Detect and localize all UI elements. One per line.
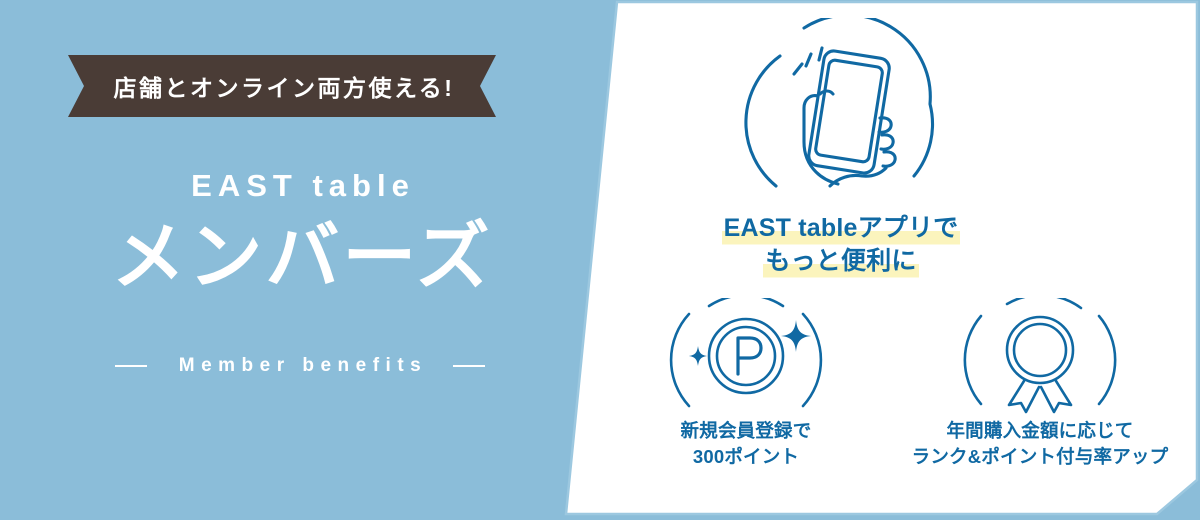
members-benefits-banner: 店舗とオンライン両方使える! EAST table メンバーズ Member b… — [0, 0, 1200, 520]
right-feature-column: EAST tableアプリで もっと便利に — [566, 0, 1200, 520]
feature-app-caption: EAST tableアプリで もっと便利に — [722, 212, 961, 278]
benefit-item-points-caption: 新規会員登録で 300ポイント — [681, 418, 812, 469]
dash-left-icon — [115, 365, 147, 367]
benefit-rank-line1: 年間購入金額に応じて — [912, 418, 1169, 444]
award-ribbon-rosette-icon — [945, 298, 1135, 416]
left-text-column: 店舗とオンライン両方使える! EAST table メンバーズ Member b… — [0, 0, 600, 520]
benefit-item-rank: 年間購入金額に応じて ランク&ポイント付与率アップ — [909, 298, 1171, 469]
brand-name: EAST table — [0, 168, 600, 204]
hand-holding-smartphone-icon — [734, 18, 949, 208]
ribbon-badge: 店舗とオンライン両方使える! — [68, 55, 496, 117]
feature-app-caption-line1: EAST tableアプリで — [722, 212, 961, 245]
page-title: メンバーズ — [0, 218, 600, 296]
benefit-item-rank-caption: 年間購入金額に応じて ランク&ポイント付与率アップ — [912, 418, 1169, 469]
benefit-item-points: 新規会員登録で 300ポイント — [635, 298, 857, 469]
feature-app: EAST tableアプリで もっと便利に — [656, 18, 1026, 278]
feature-app-caption-line2: もっと便利に — [763, 245, 918, 278]
subtitle-row: Member benefits — [0, 355, 600, 377]
point-coin-sparkle-icon — [651, 298, 841, 416]
ribbon-badge-label: 店舗とオンライン両方使える! — [110, 69, 455, 103]
benefit-points-line2: 300ポイント — [681, 444, 812, 470]
subtitle-label: Member benefits — [173, 355, 427, 377]
benefit-row: 新規会員登録で 300ポイント — [566, 298, 1200, 469]
dash-right-icon — [453, 365, 485, 367]
benefit-points-line1: 新規会員登録で — [681, 418, 812, 444]
benefit-rank-line2: ランク&ポイント付与率アップ — [912, 444, 1169, 470]
